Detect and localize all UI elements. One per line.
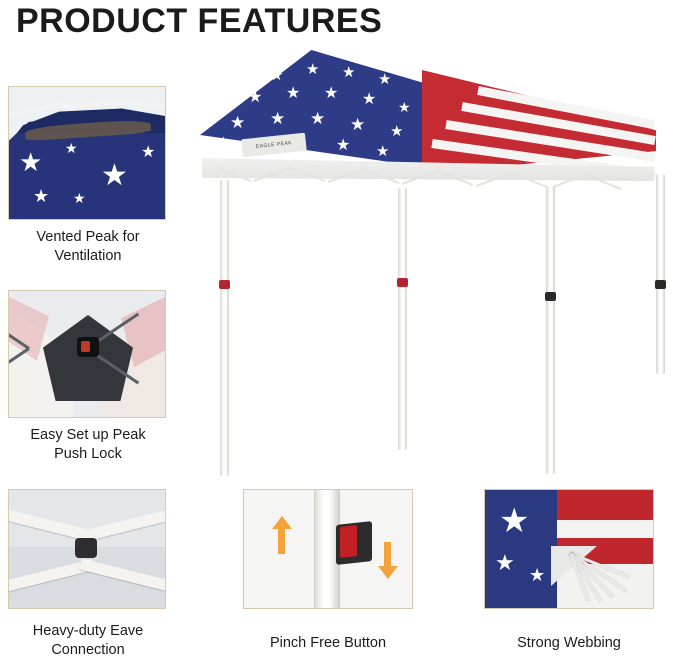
- caption-line-1: Vented Peak for: [2, 228, 174, 247]
- feature-caption-eave-connection: Heavy-duty Eave Connection: [2, 622, 174, 660]
- canopy-star: [310, 110, 325, 127]
- flag-white-stripe: [557, 520, 654, 538]
- feature-image-strong-webbing: [484, 489, 654, 609]
- push-lock-button: [81, 341, 90, 352]
- canopy-star: [529, 566, 545, 584]
- canopy-star: [19, 149, 42, 175]
- canopy-star: [216, 136, 230, 152]
- leg-collar: [545, 292, 556, 301]
- caption-line-2: Connection: [2, 641, 174, 660]
- canopy-star: [141, 145, 155, 161]
- hero-product-image: EAGLE PEAK: [186, 40, 676, 480]
- canopy-star: [362, 92, 376, 108]
- canopy-star: [398, 100, 411, 114]
- feature-image-eave-connection: [8, 489, 166, 609]
- feature-image-pinch-free-button: [243, 489, 413, 609]
- canopy-star: [230, 114, 245, 131]
- canopy-star: [495, 552, 515, 574]
- canopy-star: [324, 86, 338, 102]
- canopy-star: [33, 187, 49, 205]
- canopy-star: [390, 124, 403, 139]
- leg-collar: [655, 280, 666, 289]
- eave-connection-hub: [75, 538, 97, 558]
- caption-line-2: Ventilation: [2, 247, 174, 266]
- canopy-star: [65, 141, 78, 155]
- caption-line-1: Pinch Free Button: [238, 634, 418, 653]
- feature-caption-strong-webbing: Strong Webbing: [479, 634, 659, 653]
- canopy-leg: [220, 180, 229, 476]
- canopy-star: [101, 161, 128, 191]
- caption-line-1: Strong Webbing: [479, 634, 659, 653]
- arrow-down-icon: [378, 566, 398, 579]
- canopy-star: [499, 504, 529, 538]
- canopy-star: [248, 90, 262, 106]
- canopy-star: [342, 65, 355, 80]
- caption-line-1: Easy Set up Peak: [2, 426, 174, 445]
- caption-line-2: Push Lock: [2, 445, 174, 464]
- canopy-star: [336, 138, 350, 154]
- page-title: PRODUCT FEATURES: [16, 2, 382, 41]
- canopy-star: [73, 191, 86, 205]
- canopy-leg: [656, 174, 665, 374]
- leg-collar: [397, 278, 408, 287]
- feature-image-vented-peak: [8, 86, 166, 220]
- canopy-leg: [546, 186, 555, 474]
- feature-caption-pinch-free-button: Pinch Free Button: [238, 634, 418, 653]
- canopy-star: [350, 116, 365, 133]
- arrow-up-shaft: [278, 528, 285, 554]
- caption-line-1: Heavy-duty Eave: [2, 622, 174, 641]
- leg-collar: [219, 280, 230, 289]
- canopy-star: [286, 86, 300, 102]
- canopy-star: [270, 68, 283, 83]
- canopy-star: [306, 62, 319, 77]
- canopy-leg: [398, 188, 407, 450]
- arrow-down-shaft: [384, 542, 391, 568]
- feature-image-push-lock: [8, 290, 166, 418]
- pinch-free-button-red: [340, 525, 357, 558]
- feature-caption-push-lock: Easy Set up Peak Push Lock: [2, 426, 174, 464]
- flag-red-stripe: [557, 490, 654, 520]
- canopy-star: [270, 110, 285, 127]
- feature-caption-vented-peak: Vented Peak for Ventilation: [2, 228, 174, 266]
- canopy-star: [378, 72, 391, 87]
- canopy-star: [376, 144, 389, 159]
